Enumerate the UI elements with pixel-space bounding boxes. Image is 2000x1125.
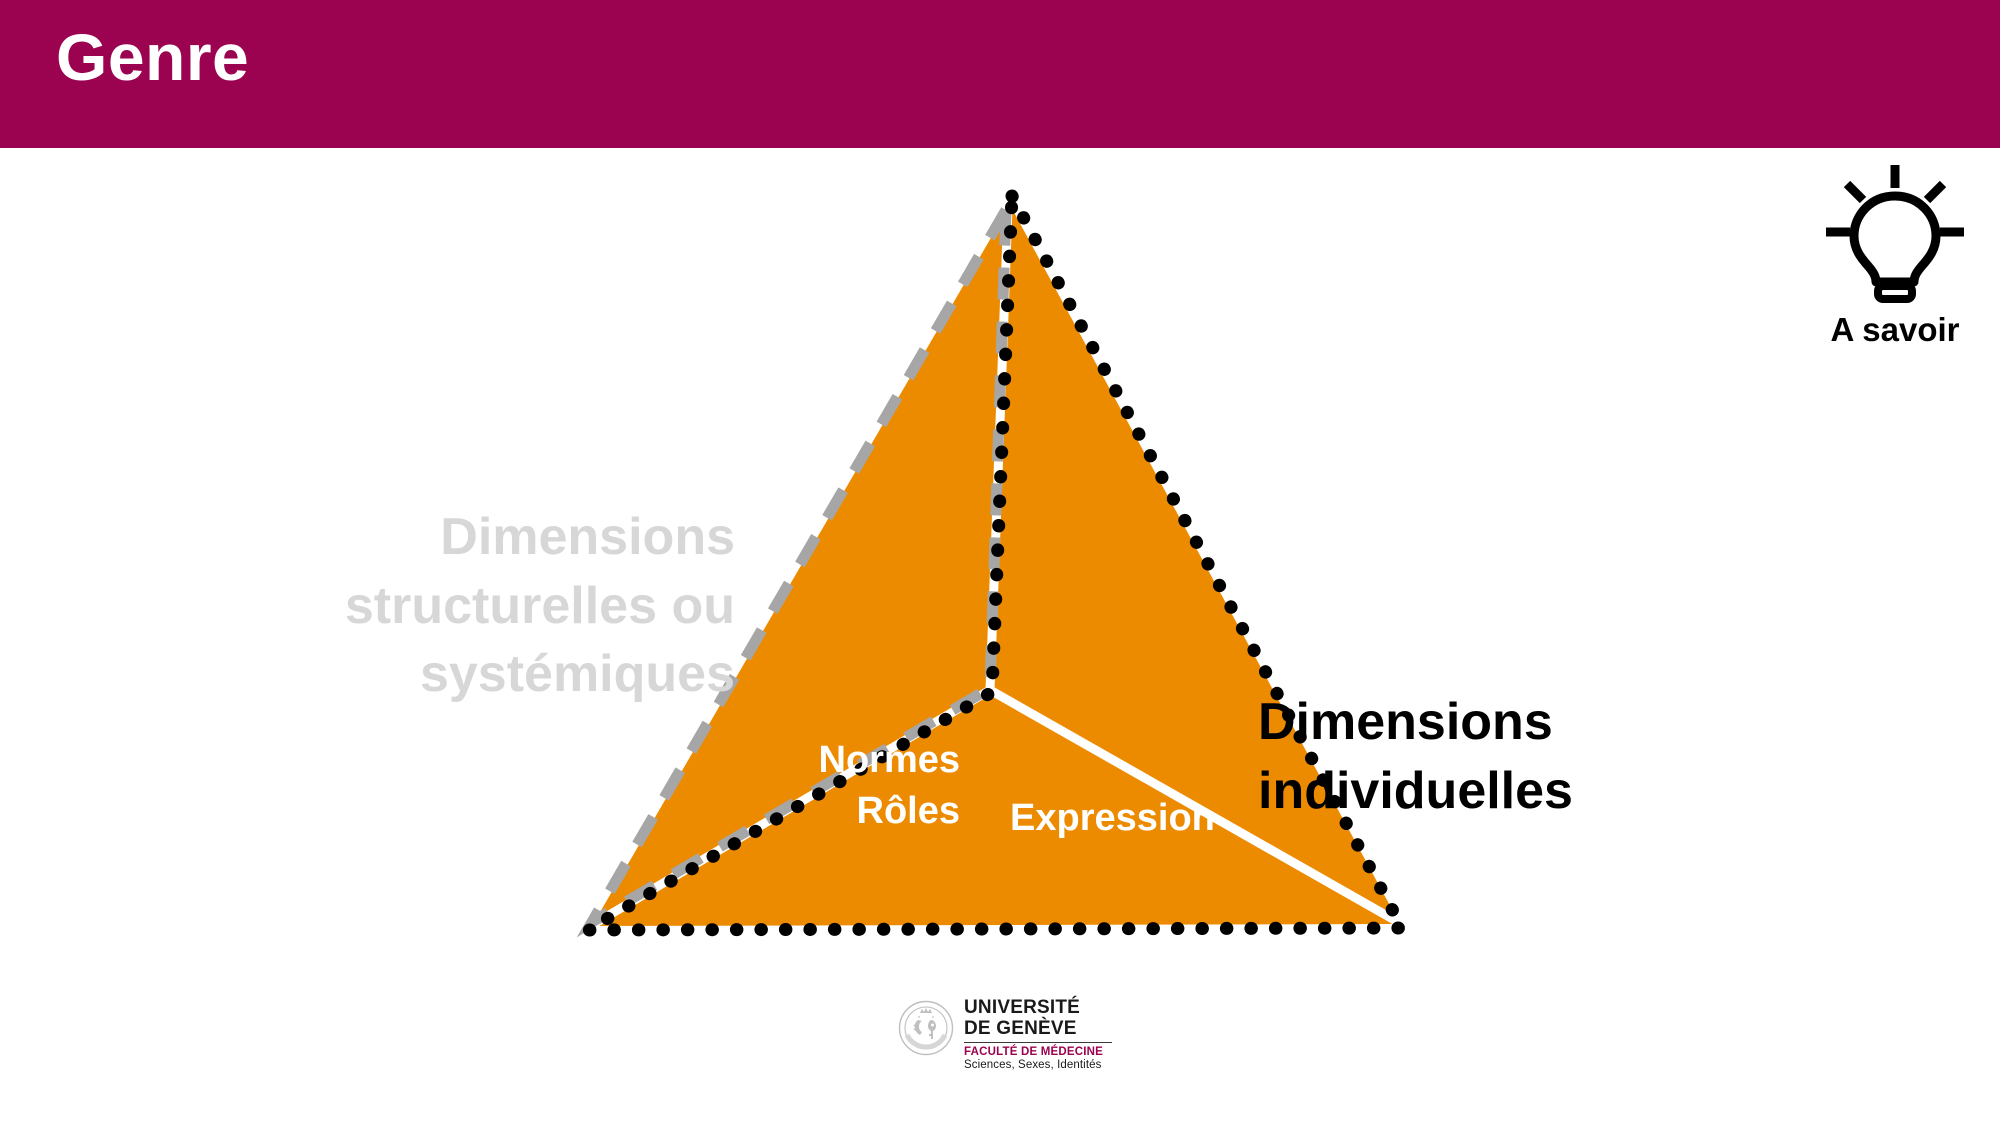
gender-triangle-diagram: Dimensions structurelles ou systémiques … <box>0 148 2000 978</box>
logo-subtitle-line: Sciences, Sexes, Identités <box>964 1059 1114 1071</box>
caption-structural-line-3: systémiques <box>250 640 735 709</box>
logo-faculty-line: FACULTÉ DE MÉDECINE <box>964 1046 1114 1058</box>
segment-label-expression-line-1: Expression <box>1010 793 1215 844</box>
slide-canvas: Genre <box>0 0 2000 1125</box>
logo-text-block: UNIVERSITÉ DE GENÈVE FACULTÉ DE MÉDECINE… <box>964 998 1114 1071</box>
caption-structural-line-2: structurelles ou <box>250 572 735 641</box>
university-seal-icon <box>898 1000 954 1056</box>
caption-individual-line-2: individuelles <box>1258 757 1738 826</box>
caption-structural-dimensions: Dimensions structurelles ou systémiques <box>250 503 735 709</box>
segment-label-identites-line-1: Identités <box>890 943 1046 994</box>
footer-logo: UNIVERSITÉ DE GENÈVE FACULTÉ DE MÉDECINE… <box>898 1000 1118 1095</box>
segment-label-normes-line-1: Normes <box>630 735 960 786</box>
header-bar: Genre <box>0 0 2000 148</box>
caption-individual-line-1: Dimensions <box>1258 688 1738 757</box>
caption-individual-dimensions: Dimensions individuelles <box>1258 688 1738 825</box>
segment-label-expression: Expression <box>1010 793 1215 844</box>
logo-university-line-2: DE GENÈVE <box>964 1019 1114 1040</box>
segment-label-normes-line-2: Rôles <box>630 786 960 837</box>
segment-label-identites: Identités <box>890 943 1046 994</box>
segment-label-normes-roles: Normes Rôles <box>630 735 960 838</box>
page-title: Genre <box>56 20 249 96</box>
logo-university-line-1: UNIVERSITÉ <box>964 998 1114 1019</box>
caption-structural-line-1: Dimensions <box>250 503 735 572</box>
logo-divider-rule <box>964 1042 1112 1043</box>
